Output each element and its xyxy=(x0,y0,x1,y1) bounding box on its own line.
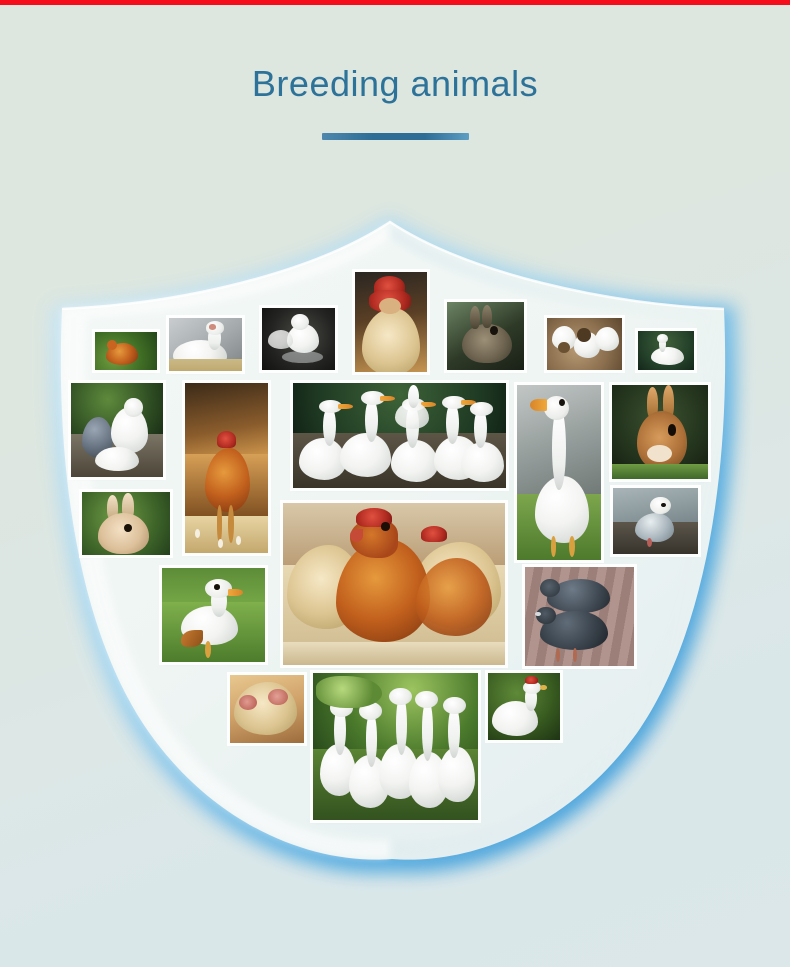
collage-photo-flock-of-white-geese[interactable] xyxy=(293,383,506,488)
collage-photo-cream-rabbit-in-grass[interactable] xyxy=(82,492,170,555)
collage-photo-white-hen-in-grass[interactable] xyxy=(488,673,560,740)
page-header: Breeding animals xyxy=(0,62,790,140)
collage-photo-pigeons-pair-in-garden[interactable] xyxy=(71,383,163,477)
collage-photo-white-muscovy-duck[interactable] xyxy=(169,318,242,371)
collage-photo-white-goose-portrait[interactable] xyxy=(517,385,601,560)
top-accent-rule xyxy=(0,0,790,5)
collage-photo-white-duck-walking-on-lawn[interactable] xyxy=(162,568,265,662)
title-underline-rule xyxy=(322,133,469,140)
collage-photo-white-dove-on-ledge[interactable] xyxy=(613,488,698,554)
collage-photo-white-duck-on-dark-water[interactable] xyxy=(262,308,335,370)
collage-photo-flock-of-geese-under-tree[interactable] xyxy=(313,673,478,820)
collage-photo-rooster-head-closeup[interactable] xyxy=(355,272,427,372)
collage-photo-rooster-in-barn[interactable] xyxy=(185,383,268,553)
collage-photo-brown-rabbit-portrait[interactable] xyxy=(612,385,708,479)
page-title: Breeding animals xyxy=(0,62,790,106)
collage-photo-goose-resting-in-pen[interactable] xyxy=(638,331,694,370)
collage-photo-hen-feather-closeup[interactable] xyxy=(230,675,304,743)
collage-photo-two-gray-pigeons-on-pavement[interactable] xyxy=(525,567,634,666)
page-root: Breeding animals xyxy=(0,0,790,967)
collage-photo-gray-rabbit[interactable] xyxy=(447,302,524,370)
collage-photo-ducklings-in-nest[interactable] xyxy=(547,318,622,370)
collage-photo-brown-laying-hens[interactable] xyxy=(283,503,505,665)
collage-photo-brown-hen-in-grass[interactable] xyxy=(95,332,157,370)
